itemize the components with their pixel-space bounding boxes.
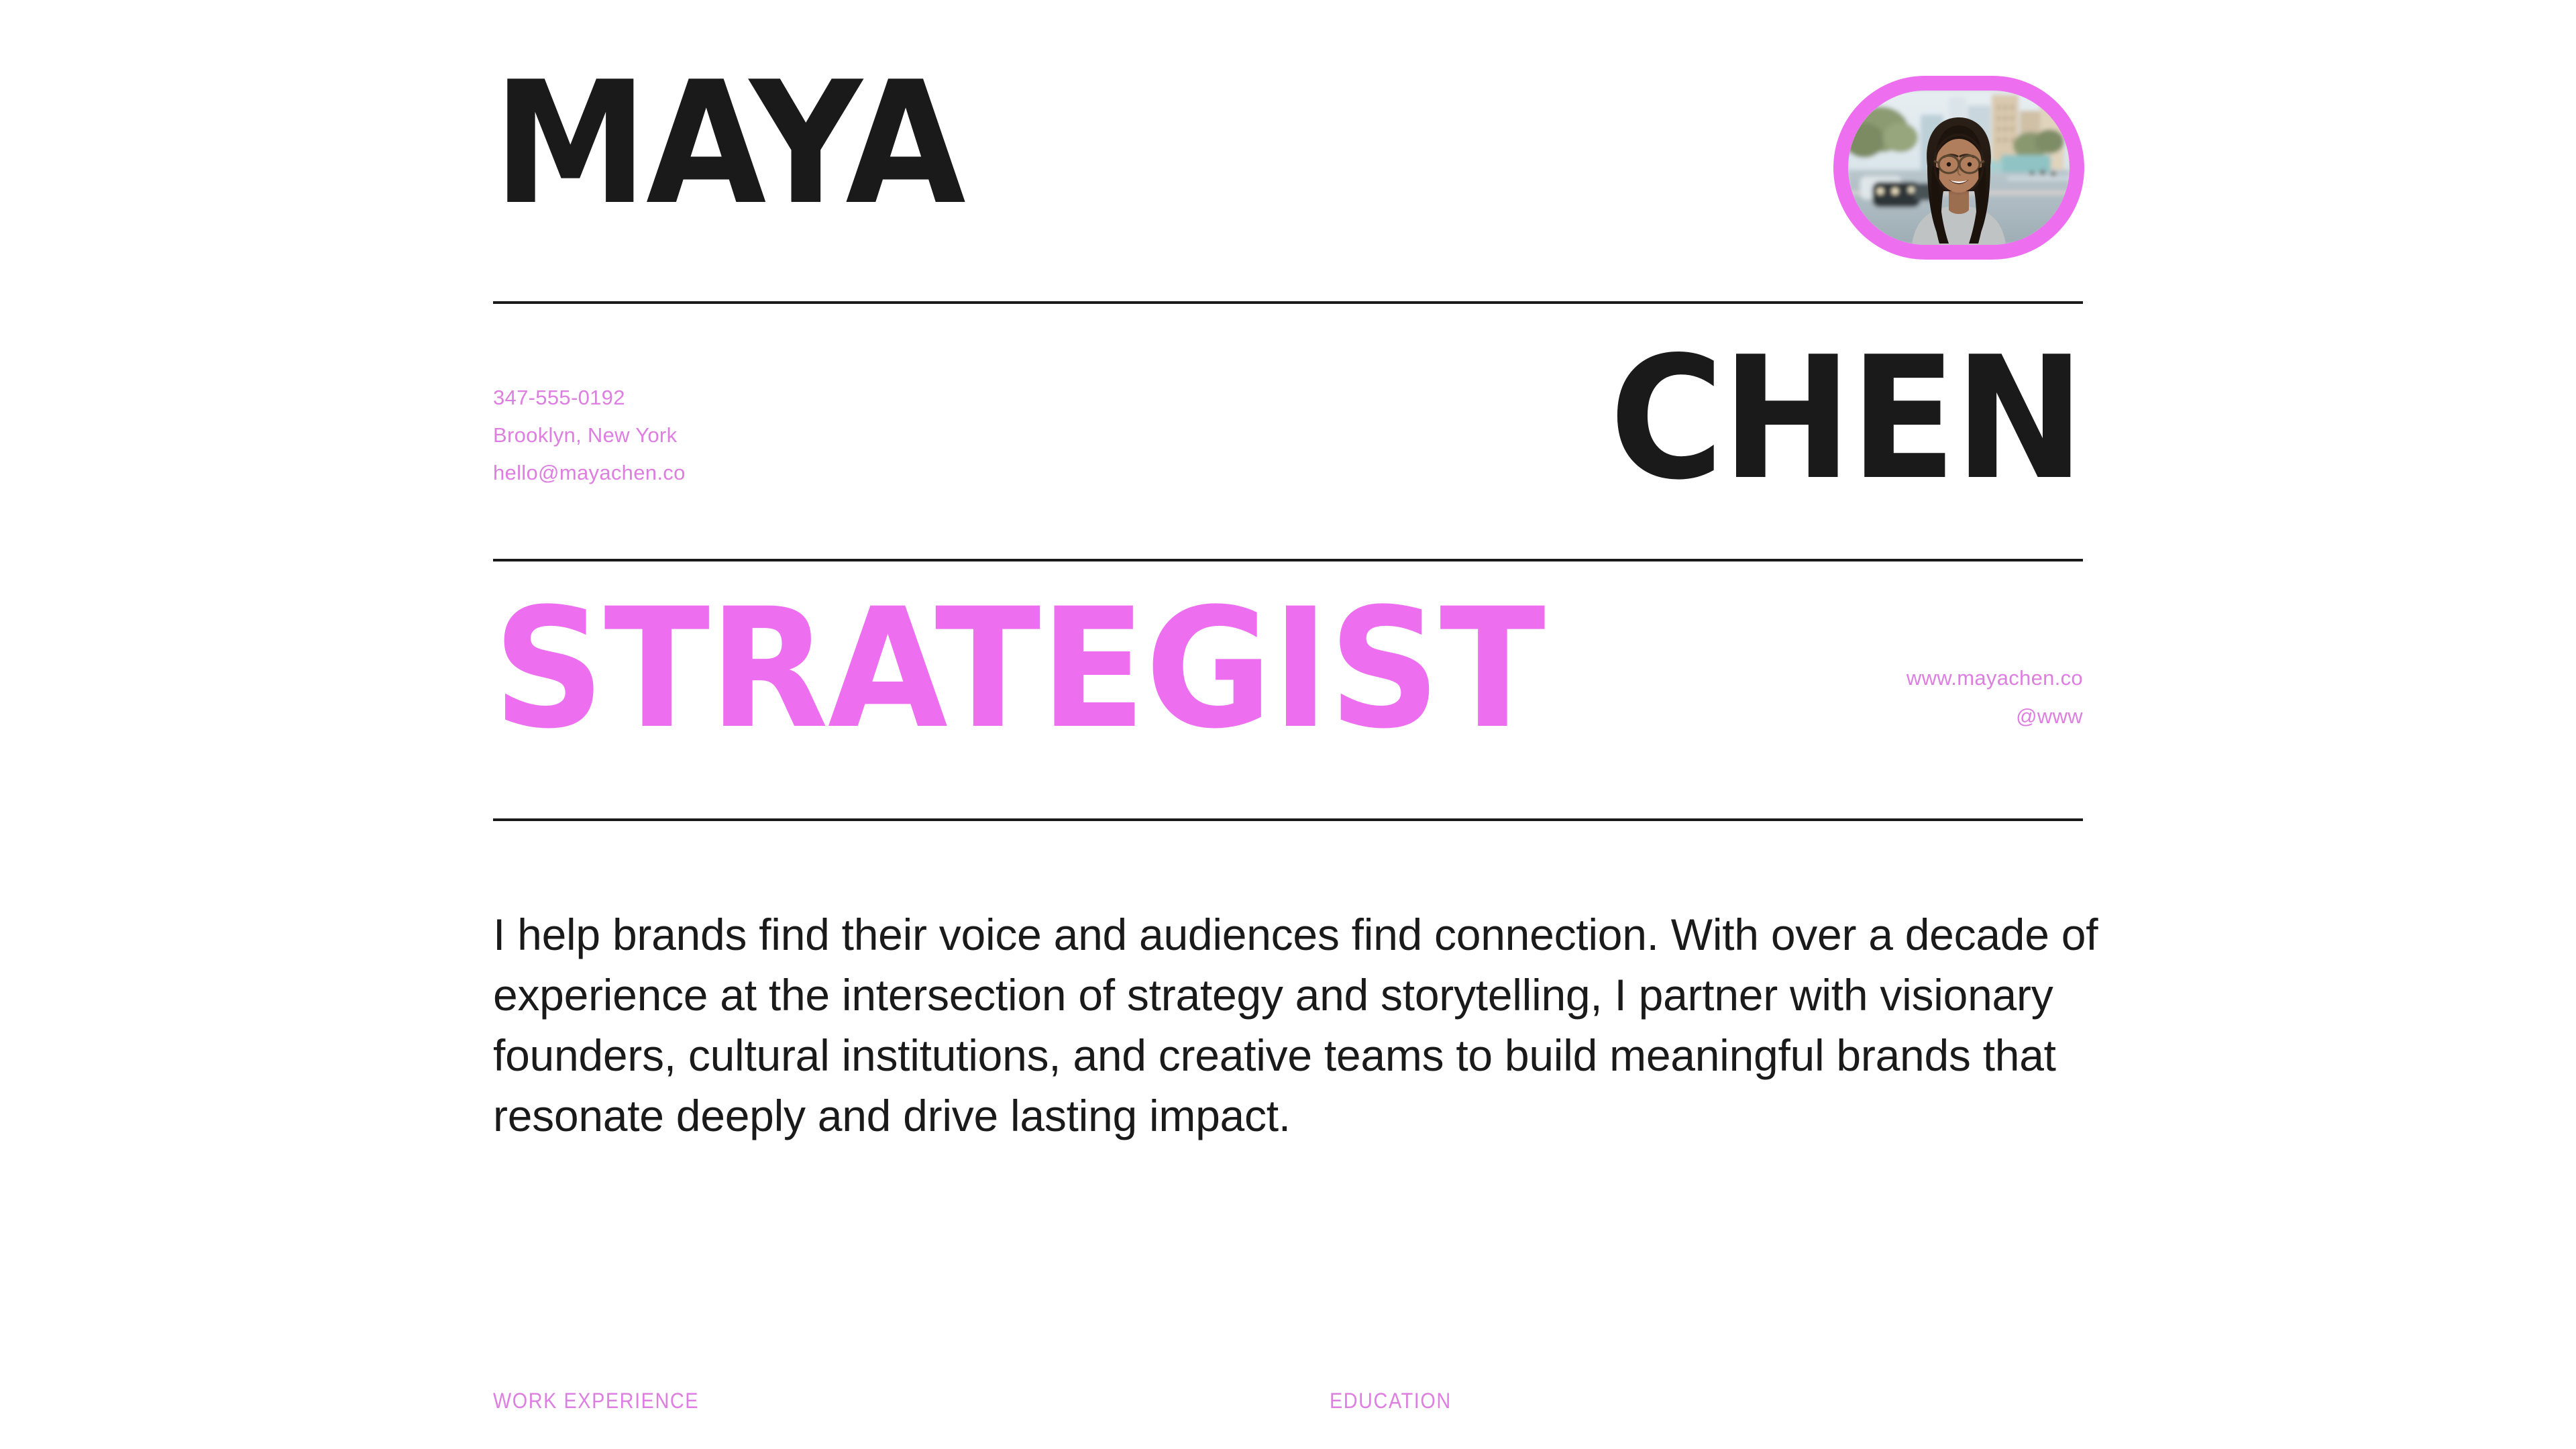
- contact-phone[interactable]: 347-555-0192: [493, 379, 686, 417]
- page-title-first-name: MAYA: [493, 75, 964, 214]
- avatar-photo: [1848, 91, 2070, 245]
- divider-rule-top: [493, 301, 2083, 304]
- contact-location: Brooklyn, New York: [493, 417, 686, 454]
- summary-paragraph: I help brands find their voice and audie…: [493, 904, 2103, 1146]
- role-title: STRATEGIST: [493, 602, 1545, 738]
- web-links-block: www.mayachen.co @www: [1907, 659, 2083, 735]
- section-label-education: EDUCATION: [1330, 1389, 1452, 1413]
- divider-rule-bottom: [493, 818, 2083, 821]
- page-title-last-name: CHEN: [1610, 350, 2083, 489]
- section-label-work-experience: WORK EXPERIENCE: [493, 1389, 699, 1413]
- resume-page: MAYA: [0, 0, 2576, 1449]
- website-link[interactable]: www.mayachen.co: [1907, 659, 2083, 697]
- contact-email[interactable]: hello@mayachen.co: [493, 454, 686, 492]
- social-handle[interactable]: @www: [1907, 697, 2083, 735]
- divider-rule-middle: [493, 559, 2083, 561]
- avatar: [1833, 76, 2084, 260]
- contact-block: 347-555-0192 Brooklyn, New York hello@ma…: [493, 379, 686, 492]
